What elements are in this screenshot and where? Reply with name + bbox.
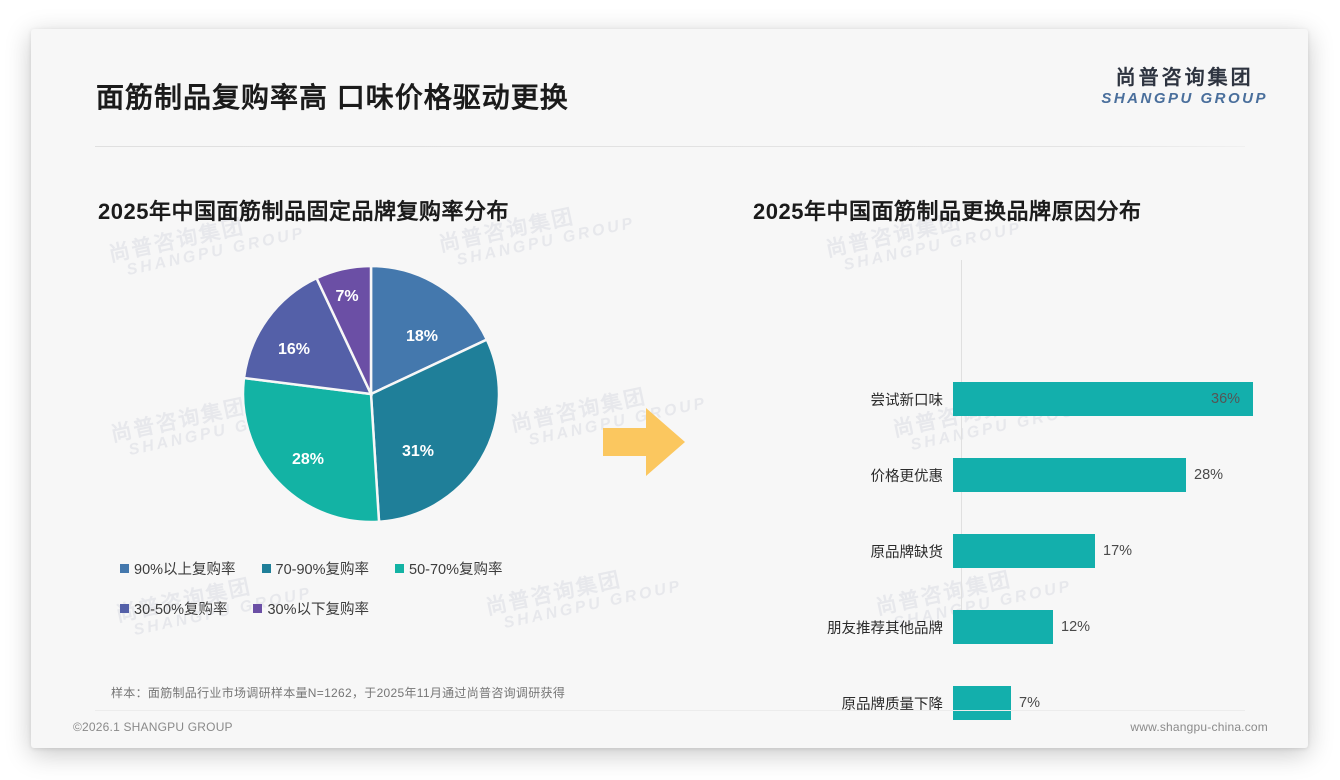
pie-chart-panel: 2025年中国面筋制品固定品牌复购率分布 18% 31% 28% [98, 194, 658, 638]
bar-row-3[interactable]: 朋友推荐其他品牌 12% [753, 610, 1283, 644]
pie-slice-2[interactable] [243, 378, 379, 522]
legend-row: 90%以上复购率 70-90%复购率 50-70%复购率 [98, 558, 618, 579]
logo-chinese: 尚普咨询集团 [1101, 67, 1268, 90]
bar-category-label: 朋友推荐其他品牌 [753, 617, 953, 638]
bar-value-label: 36% [1211, 391, 1240, 407]
bar-chart-title: 2025年中国面筋制品更换品牌原因分布 [753, 194, 1283, 226]
bar-value-label: 12% [1061, 619, 1090, 635]
pie-label-3: 16% [278, 341, 310, 358]
pie-label-1: 31% [402, 443, 434, 460]
footer-divider [95, 710, 1245, 711]
bar-row-1[interactable]: 价格更优惠 28% [753, 458, 1283, 492]
bar-row-0[interactable]: 尝试新口味 36% [753, 382, 1283, 416]
bar-category-label: 原品牌缺货 [753, 541, 953, 562]
pie-chart-area: 18% 31% 28% 16% 7% [98, 254, 658, 544]
legend-item-2[interactable]: 50-70%复购率 [395, 558, 502, 579]
bar-fill [953, 610, 1053, 644]
legend-swatch-icon [262, 564, 271, 573]
pie-label-2: 28% [292, 451, 324, 468]
legend-item-4[interactable]: 30%以下复购率 [253, 598, 369, 619]
pie-chart-title: 2025年中国面筋制品固定品牌复购率分布 [98, 194, 658, 226]
legend-swatch-icon [253, 604, 262, 613]
bar-value-label: 7% [1019, 695, 1040, 711]
legend-label: 50-70%复购率 [409, 558, 502, 579]
bar-fill [953, 686, 1011, 720]
bar-row-2[interactable]: 原品牌缺货 17% [753, 534, 1283, 568]
pie-legend: 90%以上复购率 70-90%复购率 50-70%复购率 30-50%复购率 [98, 558, 618, 619]
pie-chart-svg: 18% 31% 28% 16% 7% [226, 254, 516, 534]
legend-swatch-icon [120, 564, 129, 573]
bar-value-label: 28% [1194, 467, 1223, 483]
header-divider [95, 146, 1245, 147]
bar-chart-axis [961, 260, 962, 640]
bar-chart-panel: 2025年中国面筋制品更换品牌原因分布 尝试新口味 36% 价格更优惠 28% … [753, 194, 1283, 678]
brand-logo: 尚普咨询集团 SHANGPU GROUP [1101, 67, 1268, 108]
legend-item-3[interactable]: 30-50%复购率 [120, 598, 227, 619]
copyright-text: ©2026.1 SHANGPU GROUP [73, 720, 233, 734]
slide-canvas: 尚普咨询集团SHANGPU GROUP 尚普咨询集团SHANGPU GROUP … [31, 29, 1308, 748]
arrow-right-icon [599, 402, 689, 487]
website-url[interactable]: www.shangpu-china.com [1130, 720, 1268, 734]
bar-fill [953, 458, 1186, 492]
bar-value-label: 17% [1103, 543, 1132, 559]
bar-fill [953, 382, 1253, 416]
legend-item-0[interactable]: 90%以上复购率 [120, 558, 236, 579]
legend-label: 70-90%复购率 [276, 558, 369, 579]
legend-row: 30-50%复购率 30%以下复购率 [98, 598, 618, 619]
bar-row-4[interactable]: 原品牌质量下降 7% [753, 686, 1283, 720]
logo-english: SHANGPU GROUP [1101, 90, 1268, 108]
slide-header: 面筋制品复购率高 口味价格驱动更换 尚普咨询集团 SHANGPU GROUP [31, 29, 1308, 119]
bar-chart-area: 尝试新口味 36% 价格更优惠 28% 原品牌缺货 17% 朋友推荐其他品牌 1… [753, 278, 1283, 678]
bar-fill [953, 534, 1095, 568]
legend-item-1[interactable]: 70-90%复购率 [262, 558, 369, 579]
legend-label: 30%以下复购率 [267, 598, 369, 619]
legend-swatch-icon [395, 564, 404, 573]
legend-label: 30-50%复购率 [134, 598, 227, 619]
bar-category-label: 价格更优惠 [753, 465, 953, 486]
page-title: 面筋制品复购率高 口味价格驱动更换 [96, 76, 569, 116]
legend-label: 90%以上复购率 [134, 558, 236, 579]
source-footnote: 样本：面筋制品行业市场调研样本量N=1262，于2025年11月通过尚普咨询调研… [111, 684, 565, 701]
legend-swatch-icon [120, 604, 129, 613]
pie-label-4: 7% [335, 288, 358, 305]
pie-label-0: 18% [406, 328, 438, 345]
bar-category-label: 尝试新口味 [753, 389, 953, 410]
